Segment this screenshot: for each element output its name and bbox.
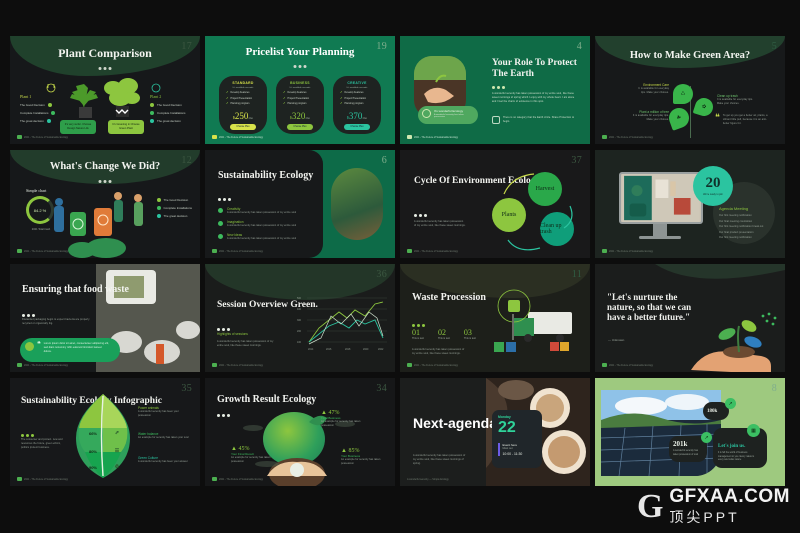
plan-price: $250/mo <box>219 111 267 121</box>
slide-number: 6 <box>382 155 387 166</box>
slide-footer: 2021 - The Future of Sustainable Ecology <box>17 363 68 367</box>
plan-feature: ✓Project Presentation <box>340 97 381 100</box>
svg-text:200: 200 <box>297 330 302 333</box>
quote-card: ❝ Lorem ipsum dolor sit amet, consectetu… <box>20 338 120 362</box>
bullet-desc: A wonderful serenity has taken possessio… <box>227 211 296 215</box>
plant-illustrations <box>10 36 200 144</box>
footer-logo-icon <box>212 135 217 139</box>
badge-number: 20 <box>706 176 721 191</box>
slide-food-waste[interactable]: Ensuring that food waste Discarded packa… <box>10 264 200 372</box>
slide-footer: 2021 - The Future of Sustainable Ecology <box>17 135 68 139</box>
slide-quote[interactable]: "Let's nurture the nature, so that we ca… <box>595 264 785 372</box>
status-dot <box>51 111 55 115</box>
tile-desc: A wonderful serenity has taken possessio… <box>673 450 703 457</box>
slide-number: 36 <box>376 269 387 280</box>
slide-footer: 2021 - The Future of Sustainable Ecology <box>602 363 653 367</box>
svg-text:2014: 2014 <box>308 348 314 351</box>
slide-footer: 2021 - The Future of Sustainable Ecology <box>17 249 68 253</box>
check-icon: ✓ <box>226 102 229 105</box>
slide-pricelist[interactable]: 19 Pricelist Your Planning STANDARD It's… <box>205 36 395 144</box>
feature-label: Project Presentation <box>345 97 367 100</box>
arrow-up-icon-1: ↗ <box>725 398 736 409</box>
stat-item-3: ▲ 85% Your Business An example for seren… <box>341 448 387 466</box>
svg-text:400: 400 <box>297 308 302 311</box>
title-dots <box>294 65 307 68</box>
plan-sub: It's available seconds <box>276 87 324 89</box>
list-item: CreativityA wonderful serenity has taken… <box>218 207 310 215</box>
list-item: Complete Installations <box>150 111 185 115</box>
plan-feature: ✓Project Presentation <box>226 97 267 100</box>
status-dot <box>47 119 51 123</box>
tile-desc: It is full the world of business managem… <box>718 452 758 463</box>
bullet-dot <box>218 208 223 213</box>
svg-text:2022: 2022 <box>378 348 384 351</box>
slide-footer: 2021 - The Future of Sustainable Ecology <box>407 135 458 139</box>
list-item: Complete Installations <box>20 111 55 115</box>
slide-footer: A wonderful serenity — Simple Ecology <box>407 478 449 481</box>
feature-label: Project Presentation <box>231 97 253 100</box>
status-dot <box>150 103 154 107</box>
check-icon: ✓ <box>226 97 229 100</box>
svg-text:2020: 2020 <box>363 348 369 351</box>
feature-label: Planning program <box>288 102 307 105</box>
slide-next-agenda[interactable]: Next-agenda A wonderful serenity has tak… <box>400 378 590 486</box>
pricing-card-standard[interactable]: STANDARD It's available seconds ✓Develop… <box>219 76 267 134</box>
quote-attribution: — Unknown <box>608 338 624 342</box>
plan-feature: ✓Develop Features <box>226 91 267 94</box>
price-value: 370 <box>349 111 363 121</box>
footer-text: A wonderful serenity — Simple Ecology <box>407 478 449 481</box>
left-plant-button[interactable]: It's very surfer. Choose Design Nature L… <box>60 120 96 134</box>
watermark: G GFXAA.COM 顶尖PPT <box>637 487 790 527</box>
plan-feature: ✓Planning program <box>340 102 381 105</box>
svg-text:100: 100 <box>297 341 302 344</box>
slide-title: Pricelist Your Planning <box>205 46 395 58</box>
legend-desc: A wonderful serenity has been your posse… <box>138 410 190 418</box>
plan-feature: ✓Develop Features <box>283 91 324 94</box>
plan-feature: ✓Planning program <box>226 102 267 105</box>
footer-text: 2021 - The Future of Sustainable Ecology <box>24 136 68 139</box>
list-item: The great decision <box>150 119 185 123</box>
plan-price: $370/mo <box>333 111 381 121</box>
stat-item-1: ▲ 47% Final Business An example for sere… <box>321 410 369 428</box>
garbage-truck-illustration <box>400 264 590 372</box>
badge-title: It's wonderful Ecology <box>434 109 474 113</box>
title-dots <box>218 198 231 201</box>
choose-plan-button[interactable]: Choose Plan <box>287 124 313 130</box>
slide-footer: 2021 - The Future of Sustainable Ecology <box>407 363 458 367</box>
footer-logo-icon <box>212 363 217 367</box>
slide-plant-comparison[interactable]: 17 Plant Comparison <box>10 36 200 144</box>
legend-item-2: Water balance An example for serenity ha… <box>138 432 190 440</box>
body-text: A wonderful serenity has taken possessio… <box>413 454 469 466</box>
count-badge: 20 We're ready to join <box>693 166 733 206</box>
cycle-arrows <box>400 150 590 258</box>
quote-text: To get up you get a better air, plants, … <box>723 114 769 126</box>
slide-number: 8 <box>772 383 777 394</box>
agenda-item: Our first meeting notification <box>719 236 771 240</box>
slide-title: Your Role To Protect The Earth <box>492 58 590 79</box>
footer-text: 2021 - The Future of Sustainable Ecology <box>219 250 263 253</box>
slide-footer: 2021 - The Future of Sustainable Ecology <box>212 135 263 139</box>
legend-dot <box>157 198 161 202</box>
slide-whats-change[interactable]: 12 What's Change We Did? Simple chart 84… <box>10 150 200 258</box>
bullet-list: CreativityA wonderful serenity has taken… <box>218 202 310 241</box>
item-label: Complete Installations <box>20 111 48 115</box>
feature-label: Project Presentation <box>288 97 310 100</box>
quote-text: Lorem ipsum dolor sit amet, consectetuer… <box>44 342 110 354</box>
legend-item: The great decision <box>157 214 192 218</box>
monitor-photo <box>619 172 703 224</box>
check-icon: ✓ <box>283 102 286 105</box>
footer-logo-icon <box>17 363 22 367</box>
agenda-item: Our final meeting countdown <box>719 220 771 224</box>
footer-text: 2021 - The Future of Sustainable Ecology <box>24 478 68 481</box>
item-clean-trash: Clean up trash It is available for every… <box>717 94 759 106</box>
plan-sub: It's available seconds <box>333 87 381 89</box>
check-icon: ✓ <box>340 97 343 100</box>
event-day: 22 <box>498 419 516 436</box>
hands-pot-illustration <box>205 378 395 486</box>
bullet-desc: A wonderful serenity has taken possessio… <box>227 237 296 241</box>
leaf-icon <box>422 109 431 118</box>
list-item: ImaginationA wonderful serenity has take… <box>218 220 310 228</box>
slide-cycle-environment[interactable]: 37 Cycle Of Environment Ecology A wonder… <box>400 150 590 258</box>
leaf-icon-3: ♻ <box>104 454 130 480</box>
stat-desc: An example for serenity has taken posses… <box>341 458 387 466</box>
item-desc: It is available for everyday tips. Make … <box>637 87 669 95</box>
item-environment-care: Environment Care It is available for eve… <box>637 83 669 95</box>
badge-card[interactable]: It's wonderful Ecology A wonderful seren… <box>418 106 478 124</box>
footer-text: 2021 - The Future of Sustainable Ecology <box>24 364 68 367</box>
legend-label: Complete Installations <box>164 206 192 210</box>
left-plant-column: Plant 1 The Good Decision Complete Insta… <box>20 94 55 127</box>
status-dot <box>48 103 52 107</box>
panel-title: Agenda Meeting <box>719 206 771 211</box>
choose-plan-button[interactable]: Choose Plan <box>344 124 370 130</box>
plan-name: STANDARD <box>219 81 267 85</box>
check-icon: ✓ <box>340 91 343 94</box>
legend-label: The great decision <box>164 214 188 218</box>
tile-value: Let's join us. <box>718 444 745 449</box>
slide-footer: 2021 - The Future of Sustainable Ecology <box>602 249 653 253</box>
check-icon: ✓ <box>283 97 286 100</box>
calendar-icon: ▦ <box>747 424 760 437</box>
title-dots <box>22 314 35 317</box>
event-sub: Meet out <box>503 447 523 450</box>
plan-price: $320/mo <box>276 111 324 121</box>
footer-logo-icon <box>17 249 22 253</box>
body-text: Discarded packaging begin to expect bact… <box>22 318 90 326</box>
footer-logo-icon <box>407 363 412 367</box>
status-dot <box>150 111 154 115</box>
body-text: The consumer and protect. new and resour… <box>21 438 69 450</box>
price-period: /mo <box>305 116 310 120</box>
feature-label: Develop Features <box>345 91 364 94</box>
price-value: 250 <box>235 111 249 121</box>
footer-logo-icon <box>602 135 607 139</box>
stat-item-2: ▲ 45% Your Final Result An example for s… <box>231 446 277 464</box>
plant-2-label: Plant 2 <box>150 94 185 99</box>
slide-sustainability-ecology[interactable]: 6 Sustainability Ecology CreativityA won… <box>205 150 395 258</box>
title-dots <box>492 86 505 89</box>
footer-logo-icon <box>17 135 22 139</box>
footer-logo-icon <box>212 249 217 253</box>
item-label: The Good Decision <box>20 103 45 107</box>
agenda-item: Our first meeting notification break out <box>719 225 771 229</box>
item-label: The great decision <box>20 119 44 123</box>
slide-footer: 2021 - The Future of Sustainable Ecology <box>407 249 458 253</box>
footer-text: 2021 - The Future of Sustainable Ecology <box>414 136 458 139</box>
stat-desc: An example for serenity has taken posses… <box>231 456 277 464</box>
list-item: New IdeasA wonderful serenity has taken … <box>218 233 310 241</box>
slide-number: 35 <box>181 383 192 394</box>
body-text: A wonderful serenity has taken possessio… <box>217 340 275 348</box>
legend-desc: A wonderful serenity has been your answe… <box>138 460 190 464</box>
event-time: 10:00 - 11:30 <box>503 452 523 456</box>
list-item: The great decision <box>20 119 55 123</box>
slide-footer: 2021 - The Future of Sustainable Ecology <box>212 249 263 253</box>
title-dots <box>21 434 34 437</box>
legend-item-1: Power animals A wonderful serenity has b… <box>138 406 190 418</box>
body-text: A wonderful serenity has taken possessio… <box>492 92 576 104</box>
badge-sub: A wonderful serenity has taken possessio… <box>434 114 474 118</box>
slide-footer: 2021 - The Future of Sustainable Ecology <box>212 363 263 367</box>
list-item: The Good Decision <box>20 103 55 107</box>
legend-item-3: Green Culture A wonderful serenity has b… <box>138 456 190 464</box>
choose-plan-button[interactable]: Choose Plan <box>230 124 256 130</box>
footer-text: 2021 - The Future of Sustainable Ecology <box>609 136 653 139</box>
footer-text: 2021 - The Future of Sustainable Ecology <box>24 250 68 253</box>
svg-text:2018: 2018 <box>345 348 351 351</box>
tile-value: 180k <box>707 409 717 414</box>
plant-1-label: Plant 1 <box>20 94 55 99</box>
plan-feature: ✓Project Presentation <box>283 97 324 100</box>
slide-footer: 2021 - The Future of Sustainable Ecology <box>17 477 68 481</box>
footer-text: 2021 - The Future of Sustainable Ecology <box>414 364 458 367</box>
slide-title: How to Make Green Area? <box>595 50 785 62</box>
slide-grid: 17 Plant Comparison <box>10 36 792 494</box>
blob-2-icon: ✿ <box>693 96 716 119</box>
quote-icon: ❝ <box>715 114 720 126</box>
leaf-chart: 66% 80% 90% ⇗ ☰ ♻ <box>76 394 130 478</box>
footer-logo-icon <box>212 477 217 481</box>
title-dots <box>217 328 230 331</box>
footer-logo-icon <box>602 249 607 253</box>
blob-1-icon: ♺ <box>673 84 693 104</box>
plan-name: CREATIVE <box>333 81 381 85</box>
arrow-up-icon-2: ↗ <box>701 432 712 443</box>
agenda-panel: Agenda Meeting Our first meeting notific… <box>719 206 771 240</box>
agenda-item: Our final product presentation <box>719 231 771 235</box>
note-text: There is no category that the Earth circ… <box>503 116 581 124</box>
pricing-card-business[interactable]: BUSINESS It's available seconds ✓Develop… <box>276 76 324 134</box>
slide-growth-result[interactable]: 34 Growth Result Ecology ▲ 47% Final Bus… <box>205 378 395 486</box>
svg-text:500: 500 <box>297 297 302 300</box>
bullet-desc: A wonderful serenity has taken possessio… <box>227 224 296 228</box>
monitor-base <box>639 236 681 239</box>
right-plant-button[interactable]: It's Greening in Choose Green Plant <box>108 120 144 134</box>
slide-agenda-meeting[interactable]: 20 We're ready to join Agenda Meeting Ou… <box>595 150 785 258</box>
footer-text: 2021 - The Future of Sustainable Ecology <box>219 136 263 139</box>
gardener-photo <box>331 168 383 240</box>
item-plant-tree: Plant a million of tree It is available … <box>629 110 669 122</box>
feature-label: Develop Features <box>288 91 307 94</box>
slide-green-area[interactable]: 5 How to Make Green Area? ♺ ✿ ☘ Environm… <box>595 36 785 144</box>
watermark-domain: GFXAA.COM <box>669 487 790 507</box>
legend-desc: An example for serenity has taken your s… <box>138 436 190 440</box>
legend: The Good Decision Complete Installations… <box>157 198 192 222</box>
footer-text: 2021 - The Future of Sustainable Ecology <box>414 250 458 253</box>
plan-name: BUSINESS <box>276 81 324 85</box>
list-item: The Good Decision <box>150 103 185 107</box>
footer-text: 2021 - The Future of Sustainable Ecology <box>219 478 263 481</box>
blob-3-icon: ☘ <box>666 105 692 131</box>
slide-session-overview[interactable]: 36 Session Overview Green. Highlights of… <box>205 264 395 372</box>
slide-solar-energy[interactable]: 8 180k ↗ 201k A wonderful serenity has t… <box>595 378 785 486</box>
note-row: There is no category that the Earth circ… <box>492 116 581 124</box>
legend-dot <box>157 214 161 218</box>
right-plant-column: Plant 2 The Good Decision Complete Insta… <box>150 94 185 127</box>
leaf-badge-icon <box>492 116 500 124</box>
item-desc: It is available for everyday tips. Make … <box>629 114 669 122</box>
bullet-dot <box>218 234 223 239</box>
footer-text: 2021 - The Future of Sustainable Ecology <box>609 364 653 367</box>
slide-title: Next-agenda <box>413 416 497 431</box>
bullet-dot <box>218 221 223 226</box>
status-dot <box>150 119 154 123</box>
slide-leaf-infographic[interactable]: 35 Sustainability Ecology Infographic Th… <box>10 378 200 486</box>
footer-text: 2021 - The Future of Sustainable Ecology <box>609 250 653 253</box>
check-icon: ✓ <box>340 102 343 105</box>
footer-logo-icon <box>407 249 412 253</box>
quote-block: ❝ To get up you get a better air, plants… <box>715 114 769 126</box>
plan-feature: ✓Planning program <box>283 102 324 105</box>
presentation-preview-board: 17 Plant Comparison <box>0 0 800 533</box>
pricing-card-creative[interactable]: CREATIVE It's available seconds ✓Develop… <box>333 76 381 134</box>
event-card[interactable]: Monday 22 Event here Meet out 10:00 - 11… <box>492 410 542 468</box>
tile-value: 201k <box>673 440 687 448</box>
legend-item: Complete Installations <box>157 206 192 210</box>
slide-number: 4 <box>577 41 582 52</box>
slide-footer: 2021 - The Future of Sustainable Ecology <box>602 135 653 139</box>
legend-label: The Good Decision <box>164 198 189 202</box>
price-period: /mo <box>248 116 253 120</box>
svg-text:300: 300 <box>297 319 302 322</box>
item-desc: It is available for everyday tips. Make … <box>717 98 759 106</box>
quote-icon: ❝ <box>37 342 41 348</box>
feature-label: Planning program <box>231 102 250 105</box>
price-value: 320 <box>292 111 306 121</box>
avatar <box>25 342 34 351</box>
check-icon: ✓ <box>283 91 286 94</box>
footer-logo-icon <box>602 363 607 367</box>
slide-your-role[interactable]: 4 It's wonderful Ecology A wonderful ser… <box>400 36 590 144</box>
hand-sprout-illustration <box>687 308 783 372</box>
accent-bar <box>498 443 500 456</box>
chart-subtitle: Highlights of sessions <box>217 332 248 336</box>
slide-title: Sustainability Ecology <box>218 170 313 181</box>
item-label: The Good Decision <box>157 103 182 107</box>
line-chart: 500400300 200100 201420162018 20202022 <box>295 294 387 354</box>
item-label: The great decision <box>157 119 181 123</box>
legend-item: The Good Decision <box>157 198 192 202</box>
feature-label: Develop Features <box>231 91 250 94</box>
slide-title: Ensuring that food waste <box>22 284 129 295</box>
footer-logo-icon <box>407 135 412 139</box>
feature-label: Planning program <box>345 102 364 105</box>
svg-text:2016: 2016 <box>326 348 332 351</box>
legend-dot <box>157 206 161 210</box>
footer-logo-icon <box>17 477 22 481</box>
check-icon: ✓ <box>226 91 229 94</box>
footer-text: 2021 - The Future of Sustainable Ecology <box>219 364 263 367</box>
plan-feature: ✓Develop Features <box>340 91 381 94</box>
price-period: /mo <box>362 116 367 120</box>
badge-label: We're ready to join <box>703 193 723 196</box>
agenda-item: Our first meeting notification <box>719 214 771 218</box>
slide-waste-procession[interactable]: 11 Waste Procession 01This is text 02Thi… <box>400 264 590 372</box>
watermark-subtitle: 顶尖PPT <box>669 507 790 527</box>
stat-desc: An example for serenity has taken posses… <box>321 420 369 428</box>
segment-value-3: 90% <box>80 454 106 480</box>
item-label: Complete Installations <box>157 111 185 115</box>
slide-footer: 2021 - The Future of Sustainable Ecology <box>212 477 263 481</box>
monitor-stand <box>653 224 667 236</box>
watermark-logo: G <box>637 493 663 520</box>
plan-sub: It's available seconds <box>219 87 267 89</box>
